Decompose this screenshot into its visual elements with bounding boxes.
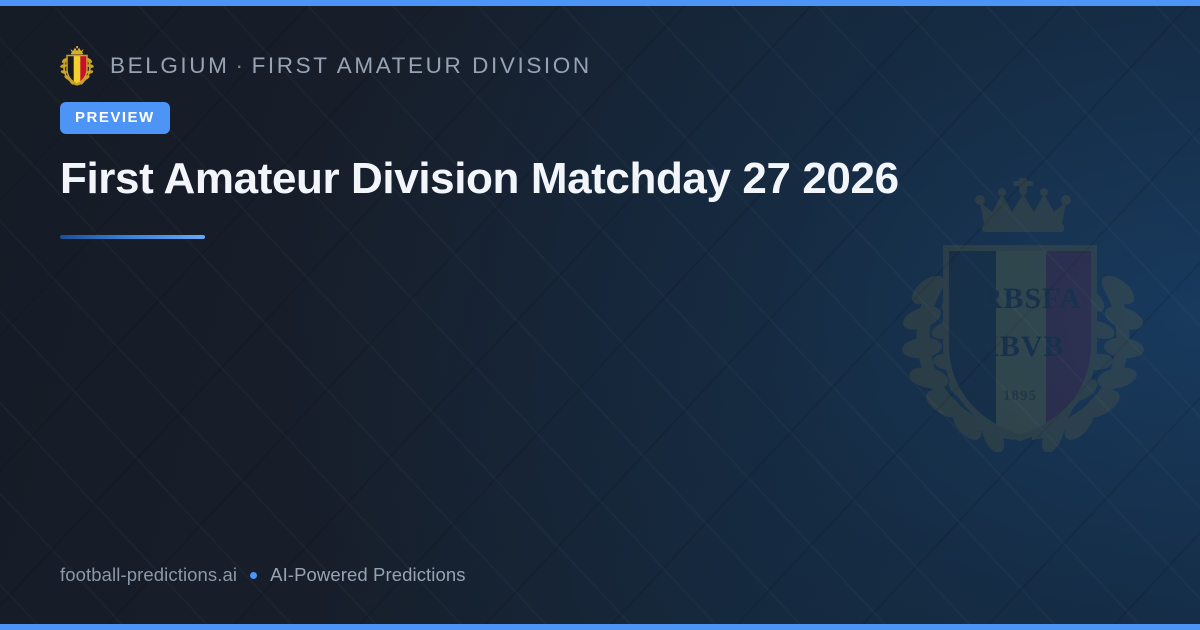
status-badge: PREVIEW (60, 102, 170, 134)
social-share-card: URBSFA KBVB 1895 (0, 0, 1200, 630)
card-content: BELGIUM·FIRST AMATEUR DIVISION PREVIEW F… (0, 0, 1200, 630)
footer-tagline: AI-Powered Predictions (270, 564, 466, 586)
footer: football-predictions.ai AI-Powered Predi… (60, 564, 466, 586)
bullet-dot-icon (250, 572, 257, 579)
top-accent-bar (0, 0, 1200, 6)
belgium-fa-crest-icon (60, 46, 94, 86)
breadcrumb-country: BELGIUM (110, 53, 229, 78)
bottom-accent-bar (0, 624, 1200, 630)
breadcrumb-competition: FIRST AMATEUR DIVISION (252, 53, 592, 78)
breadcrumb-separator: · (229, 53, 251, 78)
title-accent-underline (60, 235, 205, 239)
footer-site-name: football-predictions.ai (60, 564, 237, 586)
page-title: First Amateur Division Matchday 27 2026 (60, 153, 990, 205)
breadcrumb: BELGIUM·FIRST AMATEUR DIVISION (60, 46, 1140, 86)
breadcrumb-text: BELGIUM·FIRST AMATEUR DIVISION (110, 55, 592, 78)
